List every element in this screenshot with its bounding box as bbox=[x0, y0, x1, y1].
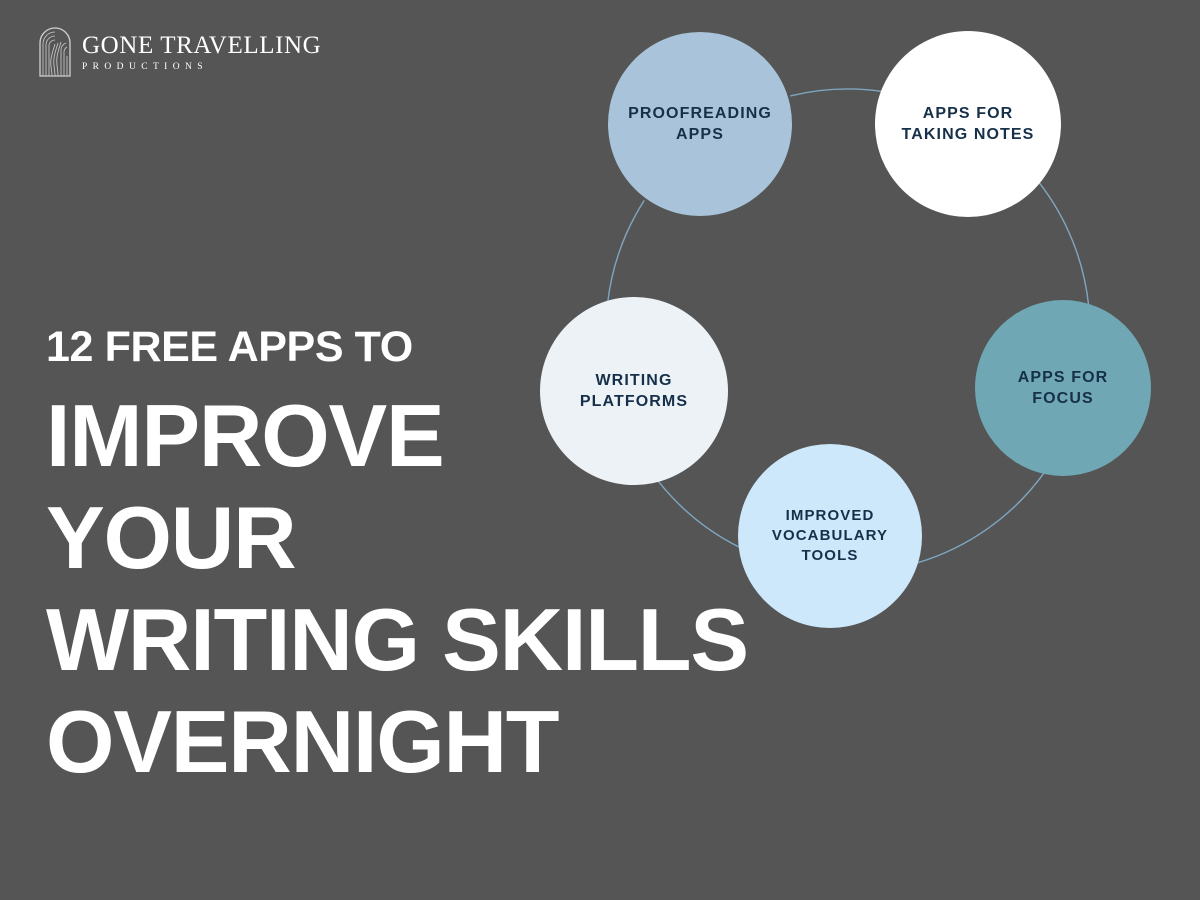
cycle-node-apps-for-taking-notes[interactable]: APPS FORTAKING NOTES bbox=[875, 31, 1061, 217]
cycle-connector-arc bbox=[608, 200, 645, 303]
cycle-node-label: APPS FORFOCUS bbox=[1008, 367, 1119, 409]
brand-logo: GONE TRAVELLING PRODUCTIONS bbox=[38, 26, 321, 78]
cycle-node-label: APPS FORTAKING NOTES bbox=[892, 103, 1045, 145]
brand-wordmark: GONE TRAVELLING PRODUCTIONS bbox=[82, 33, 321, 72]
headline-line: YOUR bbox=[46, 487, 686, 589]
arch-topographic-icon bbox=[38, 26, 72, 78]
brand-name: GONE TRAVELLING bbox=[82, 33, 321, 58]
cycle-connector-arc bbox=[918, 472, 1045, 563]
cycle-node-label: PROOFREADINGAPPS bbox=[618, 103, 782, 145]
cycle-node-apps-for-focus[interactable]: APPS FORFOCUS bbox=[975, 300, 1151, 476]
cycle-node-improved-vocabulary-tools[interactable]: IMPROVEDVOCABULARYTOOLS bbox=[738, 444, 922, 628]
headline-line: OVERNIGHT bbox=[46, 691, 686, 793]
cycle-connector-arc bbox=[1039, 182, 1089, 305]
cycle-node-writing-platforms[interactable]: WRITINGPLATFORMS bbox=[540, 297, 728, 485]
cycle-node-label: IMPROVEDVOCABULARYTOOLS bbox=[762, 506, 898, 565]
headline-line: WRITING SKILLS bbox=[46, 589, 686, 691]
cycle-connector-arc bbox=[790, 89, 882, 96]
brand-tagline: PRODUCTIONS bbox=[82, 62, 321, 72]
cycle-node-label: WRITINGPLATFORMS bbox=[570, 370, 698, 412]
cycle-node-proofreading-apps[interactable]: PROOFREADINGAPPS bbox=[608, 32, 792, 216]
